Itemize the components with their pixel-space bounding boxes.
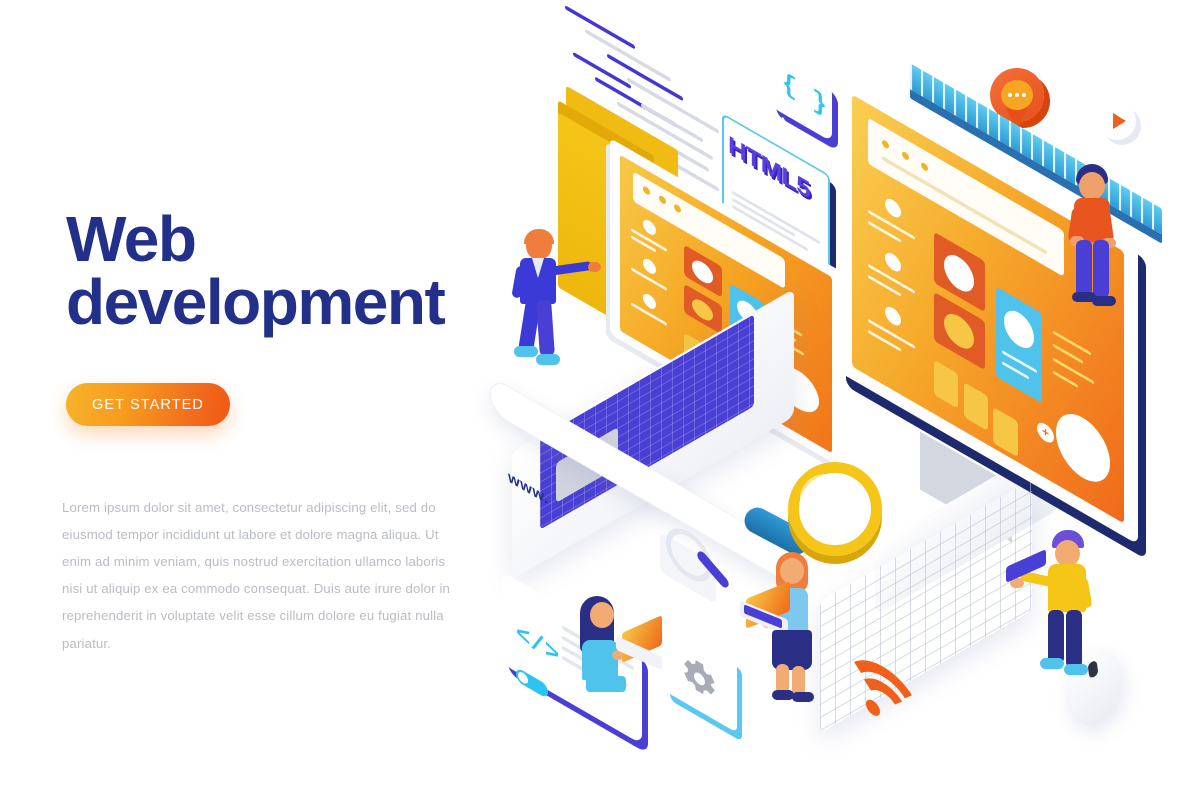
get-started-button[interactable]: GET STARTED <box>66 383 230 426</box>
character-man-with-ruler <box>1066 168 1136 308</box>
magnifier-lens <box>800 474 850 524</box>
web-development-illustration: HTML5 { } <box>470 40 1180 740</box>
monitor-plus-button[interactable]: + <box>1037 419 1054 446</box>
character-man-in-suit <box>508 232 588 372</box>
character-woman-with-laptop <box>762 552 838 702</box>
speech-bubble-tail <box>773 117 793 137</box>
character-woman-seated <box>566 596 652 706</box>
pin-dots <box>1001 80 1033 110</box>
hero-text-column: Web development <box>66 208 486 333</box>
hero-description: Lorem ipsum dolor sit amet, consectetur … <box>62 494 462 656</box>
play-button-icon[interactable] <box>1098 102 1136 140</box>
character-boy-with-card <box>1036 532 1116 682</box>
page-root: Web development GET STARTED Lorem ipsum … <box>0 0 1200 800</box>
page-title: Web development <box>66 208 486 333</box>
